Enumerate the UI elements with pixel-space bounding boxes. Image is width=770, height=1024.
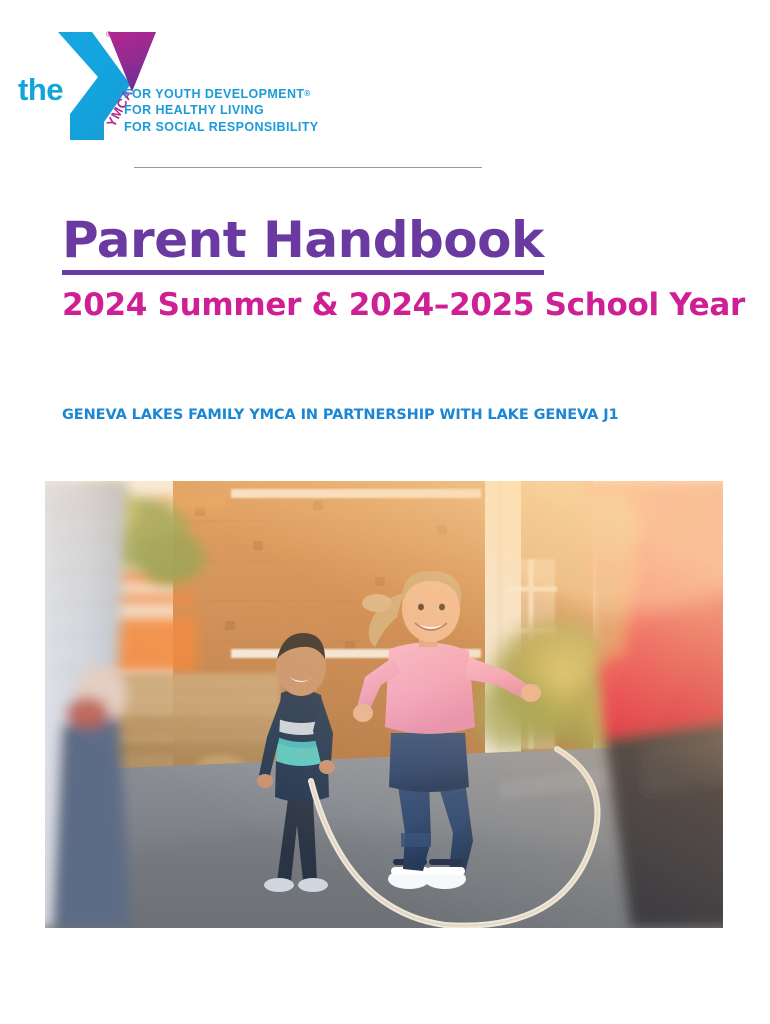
tagline-line-2: FOR HEALTHY LIVING (124, 102, 319, 118)
cover-photo (45, 481, 723, 928)
ymca-tagline: FOR YOUTH DEVELOPMENT® FOR HEALTHY LIVIN… (124, 86, 319, 135)
ymca-logo-block: the (10, 28, 480, 148)
partnership-line: GENEVA LAKES FAMILY YMCA IN PARTNERSHIP … (62, 407, 619, 423)
tagline-line-1: FOR YOUTH DEVELOPMENT® (124, 86, 319, 102)
tagline-line-3: FOR SOCIAL RESPONSIBILITY (124, 119, 319, 135)
cover-page: the (0, 0, 770, 1024)
tagline-registered-icon: ® (304, 89, 310, 98)
tagline-divider (134, 167, 482, 168)
registered-trademark-icon: ® (106, 30, 112, 39)
page-subtitle: 2024 Summer & 2024–2025 School Year (62, 288, 712, 322)
page-title: Parent Handbook (62, 214, 544, 275)
cover-title-group: Parent Handbook 2024 Summer & 2024–2025 … (62, 214, 712, 322)
